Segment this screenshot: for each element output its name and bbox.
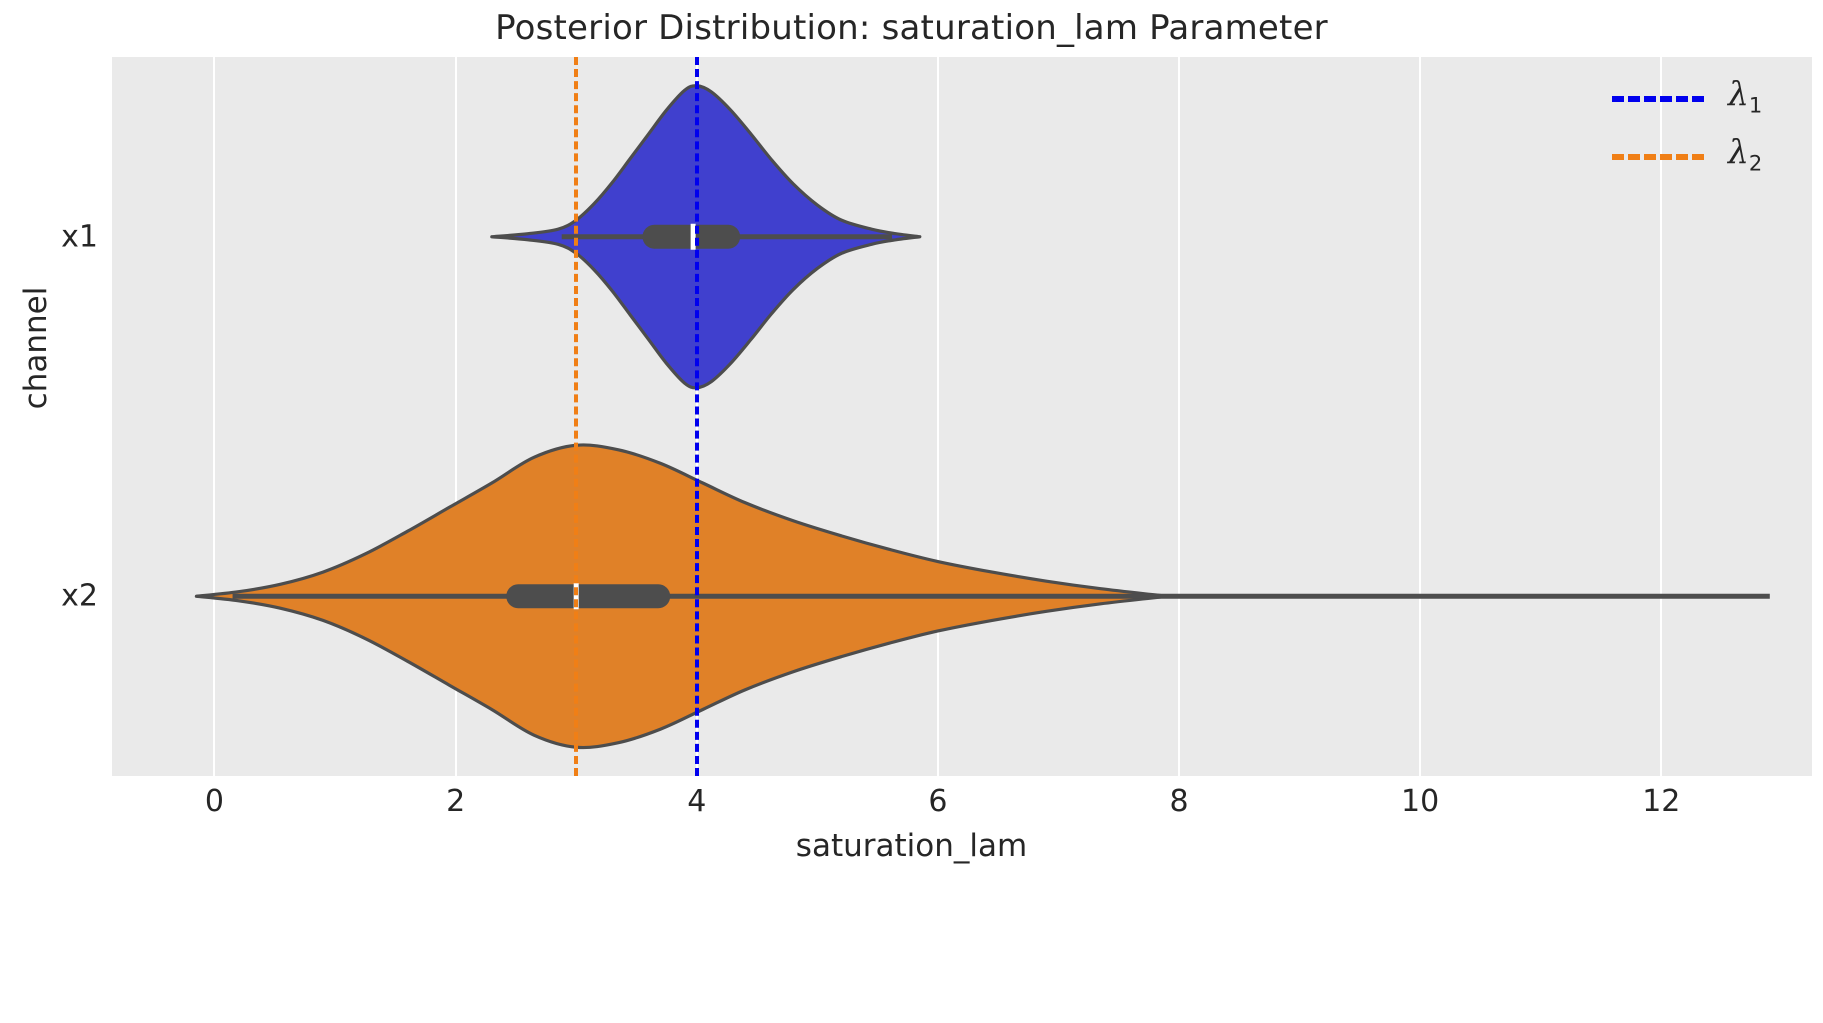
x-tick-label-6: 6 <box>928 784 947 819</box>
reference-line-lambda_1 <box>695 57 699 776</box>
x-tick-label-12: 12 <box>1642 784 1680 819</box>
violin-plot-canvas <box>112 57 1812 776</box>
x-tick-label-2: 2 <box>446 784 465 819</box>
x-tick-label-8: 8 <box>1169 784 1188 819</box>
violin-plot-figure: Posterior Distribution: saturation_lam P… <box>0 0 1823 1023</box>
plot-panel <box>112 57 1812 776</box>
chart-title: Posterior Distribution: saturation_lam P… <box>0 8 1823 48</box>
legend-label-lambda_1: λ1 <box>1728 74 1762 118</box>
iqr-box-x2 <box>506 584 670 608</box>
legend: λ1λ2 <box>1600 78 1795 193</box>
x-axis-label: saturation_lam <box>0 828 1823 864</box>
legend-item-lambda_1[interactable]: λ1 <box>1600 78 1795 118</box>
reference-line-lambda_2 <box>574 57 578 776</box>
y-tick-label-x2: x2 <box>61 579 98 614</box>
legend-item-lambda_2[interactable]: λ2 <box>1600 136 1795 176</box>
x-tick-label-10: 10 <box>1401 784 1439 819</box>
y-axis-label: channel <box>18 208 54 488</box>
x-tick-label-4: 4 <box>687 784 706 819</box>
x-tick-label-0: 0 <box>205 784 224 819</box>
violin-x1 <box>492 86 920 388</box>
legend-label-lambda_2: λ2 <box>1728 132 1762 176</box>
legend-dash-icon-lambda_1 <box>1612 96 1704 102</box>
violin-x2 <box>196 445 1769 748</box>
legend-dash-icon-lambda_2 <box>1612 154 1704 160</box>
y-tick-label-x1: x1 <box>61 219 98 254</box>
